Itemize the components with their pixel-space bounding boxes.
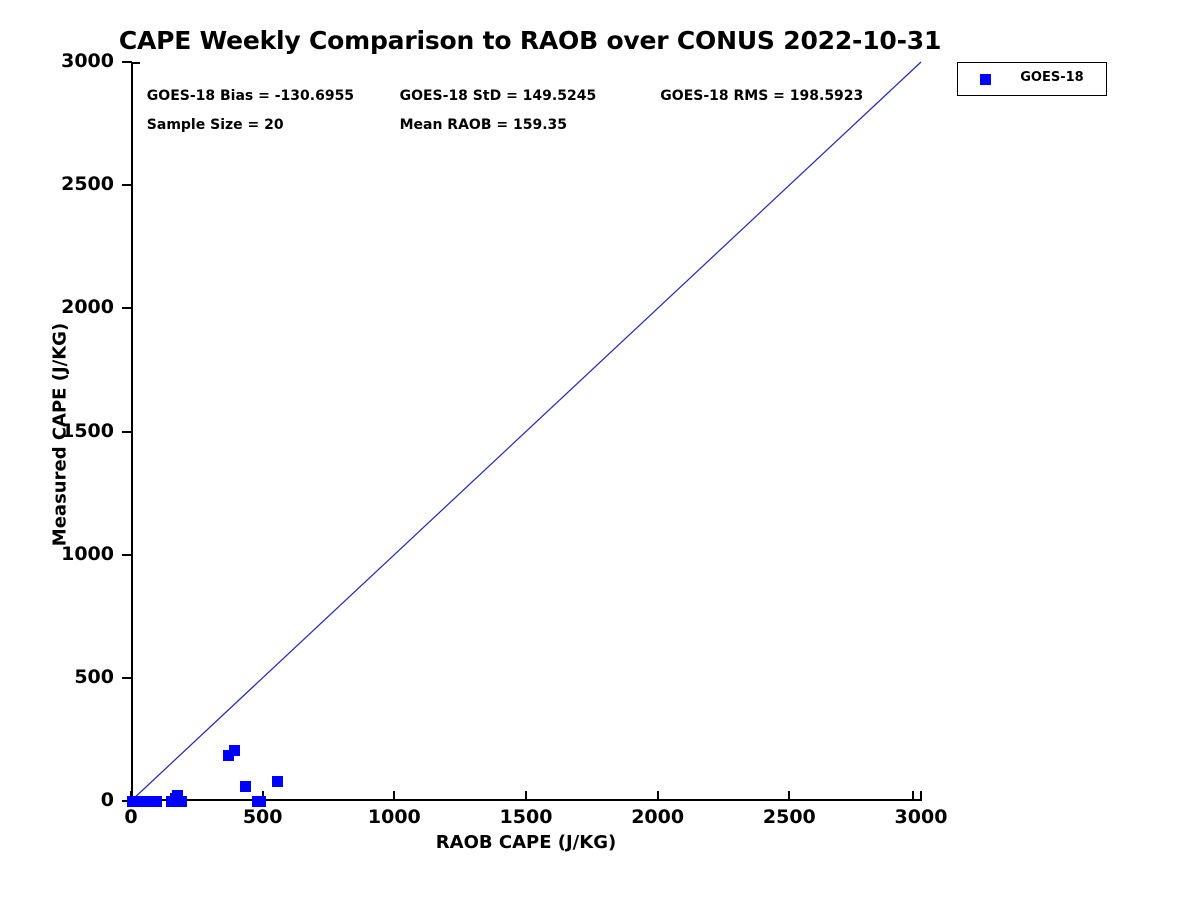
x-tick-label-1000: 1000 (334, 806, 454, 828)
legend-label-goes18: GOES-18 (1006, 70, 1098, 85)
y-axis-title: Measured CAPE (J/KG) (50, 65, 71, 805)
data-point (255, 796, 266, 807)
legend-swatch-goes18 (980, 74, 991, 85)
chart-canvas: CAPE Weekly Comparison to RAOB over CONU… (0, 0, 1200, 900)
data-point (272, 776, 283, 787)
x-tick-label-2000: 2000 (598, 806, 718, 828)
x-tick-label-3000: 3000 (861, 806, 981, 828)
data-point (151, 796, 162, 807)
x-tick-label-1500: 1500 (466, 806, 586, 828)
one-to-one-reference-line (131, 62, 921, 801)
x-tick-label-500: 500 (203, 806, 323, 828)
x-tick-label-2500: 2500 (729, 806, 849, 828)
data-point (229, 745, 240, 756)
x-tick-label-0: 0 (71, 806, 191, 828)
legend[interactable]: GOES-18 (957, 62, 1107, 96)
x-axis-title: RAOB CAPE (J/KG) (131, 832, 921, 853)
chart-title: CAPE Weekly Comparison to RAOB over CONU… (0, 26, 1060, 55)
data-point (240, 781, 251, 792)
plot-area (131, 62, 921, 801)
data-point (176, 796, 187, 807)
